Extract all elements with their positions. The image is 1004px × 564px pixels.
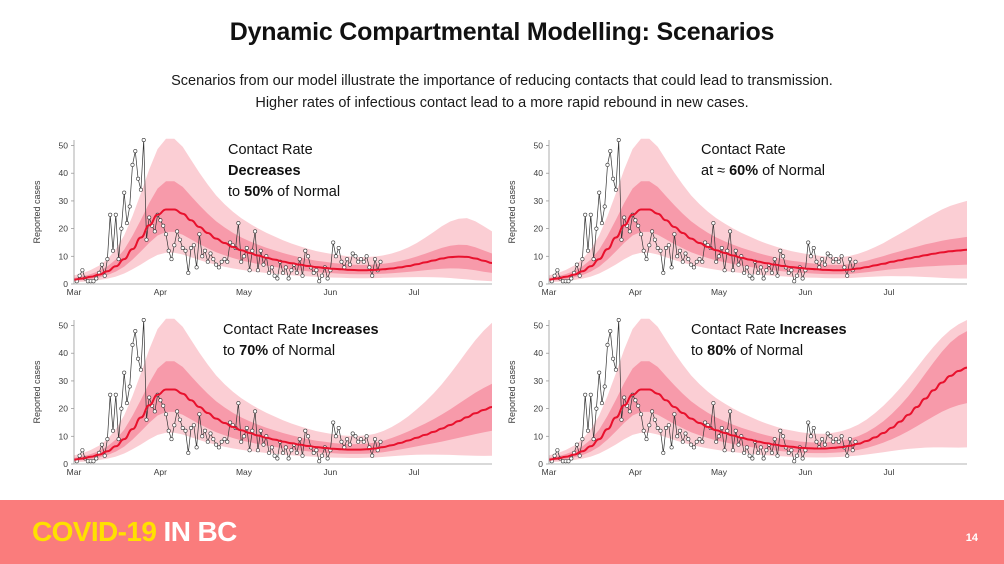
observed-cases-point bbox=[765, 449, 768, 452]
scenario-chart-grid: 01020304050MarAprMayJunJulReported cases… bbox=[0, 132, 1004, 494]
observed-cases-point bbox=[684, 252, 687, 255]
observed-cases-point bbox=[170, 437, 173, 440]
observed-cases-point bbox=[315, 449, 318, 452]
observed-cases-point bbox=[598, 371, 601, 374]
observed-cases-point bbox=[854, 260, 857, 263]
observed-cases-point bbox=[114, 393, 117, 396]
observed-cases-point bbox=[290, 449, 293, 452]
scenario-annotation-emphasis: 60% bbox=[729, 163, 758, 179]
observed-cases-point bbox=[187, 271, 190, 274]
observed-cases-point bbox=[703, 421, 706, 424]
observed-cases-point bbox=[368, 266, 371, 269]
observed-cases-point bbox=[184, 429, 187, 432]
x-axis-tick-label: Jul bbox=[409, 287, 420, 297]
observed-cases-point bbox=[787, 271, 790, 274]
observed-cases-point bbox=[214, 443, 217, 446]
observed-cases-point bbox=[209, 432, 212, 435]
observed-cases-point bbox=[123, 191, 126, 194]
observed-cases-point bbox=[720, 426, 723, 429]
observed-cases-point bbox=[226, 260, 229, 263]
y-axis-tick-label: 10 bbox=[59, 251, 69, 261]
observed-cases-point bbox=[745, 446, 748, 449]
observed-cases-point bbox=[678, 429, 681, 432]
observed-cases-point bbox=[270, 266, 273, 269]
observed-cases-point bbox=[276, 457, 279, 460]
observed-cases-point bbox=[656, 246, 659, 249]
observed-cases-point bbox=[812, 246, 815, 249]
observed-cases-point bbox=[676, 435, 679, 438]
observed-cases-point bbox=[787, 451, 790, 454]
observed-cases-point bbox=[162, 224, 165, 227]
observed-cases-point bbox=[726, 429, 729, 432]
observed-cases-point bbox=[142, 318, 145, 321]
observed-cases-point bbox=[201, 435, 204, 438]
observed-cases-point bbox=[756, 271, 759, 274]
observed-cases-point bbox=[259, 249, 262, 252]
observed-cases-point bbox=[304, 249, 307, 252]
observed-cases-point bbox=[815, 260, 818, 263]
y-axis-tick-label: 50 bbox=[534, 141, 544, 151]
observed-cases-point bbox=[175, 230, 178, 233]
observed-cases-point bbox=[131, 343, 134, 346]
observed-cases-point bbox=[248, 269, 251, 272]
observed-cases-point bbox=[628, 230, 631, 233]
observed-cases-point bbox=[348, 443, 351, 446]
observed-cases-point bbox=[809, 435, 812, 438]
observed-cases-point bbox=[815, 440, 818, 443]
observed-cases-point bbox=[748, 274, 751, 277]
observed-cases-point bbox=[237, 221, 240, 224]
observed-cases-point bbox=[357, 440, 360, 443]
observed-cases-point bbox=[351, 432, 354, 435]
observed-cases-point bbox=[770, 271, 773, 274]
observed-cases-point bbox=[617, 138, 620, 141]
observed-cases-point bbox=[726, 249, 729, 252]
observed-cases-point bbox=[623, 216, 626, 219]
scenario-annotation-text: to bbox=[691, 343, 707, 359]
observed-cases-point bbox=[106, 437, 109, 440]
x-axis-tick-label: Jul bbox=[409, 467, 420, 477]
observed-cases-point bbox=[373, 437, 376, 440]
observed-cases-point bbox=[306, 435, 309, 438]
observed-cases-point bbox=[790, 449, 793, 452]
y-axis-tick-label: 20 bbox=[59, 224, 69, 234]
observed-cases-point bbox=[681, 260, 684, 263]
observed-cases-point bbox=[670, 446, 673, 449]
observed-cases-point bbox=[620, 418, 623, 421]
observed-cases-point bbox=[287, 277, 290, 280]
scenario-annotation-text: of Normal bbox=[758, 163, 825, 179]
observed-cases-point bbox=[656, 426, 659, 429]
observed-cases-point bbox=[556, 449, 559, 452]
observed-cases-point bbox=[162, 404, 165, 407]
observed-cases-point bbox=[664, 426, 667, 429]
observed-cases-point bbox=[645, 257, 648, 260]
observed-cases-point bbox=[365, 435, 368, 438]
observed-cases-point bbox=[298, 437, 301, 440]
observed-cases-point bbox=[748, 454, 751, 457]
observed-cases-point bbox=[120, 227, 123, 230]
observed-cases-point bbox=[251, 249, 254, 252]
observed-cases-point bbox=[639, 233, 642, 236]
page-number: 14 bbox=[966, 532, 978, 544]
observed-cases-point bbox=[570, 277, 573, 280]
scenario-annotation-emphasis: 80% bbox=[707, 343, 736, 359]
observed-cases-point bbox=[829, 255, 832, 258]
observed-cases-point bbox=[570, 457, 573, 460]
observed-cases-point bbox=[731, 449, 734, 452]
observed-cases-point bbox=[114, 213, 117, 216]
observed-cases-point bbox=[695, 440, 698, 443]
observed-cases-point bbox=[379, 260, 382, 263]
footer-banner: COVID-19 IN BC 14 bbox=[0, 500, 1004, 564]
observed-cases-point bbox=[662, 451, 665, 454]
observed-cases-point bbox=[717, 255, 720, 258]
observed-cases-point bbox=[298, 257, 301, 260]
observed-cases-point bbox=[807, 241, 810, 244]
observed-cases-point bbox=[348, 263, 351, 266]
observed-cases-point bbox=[848, 257, 851, 260]
observed-cases-point bbox=[751, 277, 754, 280]
observed-cases-point bbox=[189, 426, 192, 429]
observed-cases-point bbox=[359, 257, 362, 260]
x-axis-tick-label: Mar bbox=[67, 467, 82, 477]
observed-cases-point bbox=[837, 260, 840, 263]
observed-cases-point bbox=[206, 260, 209, 263]
observed-cases-point bbox=[125, 401, 128, 404]
observed-cases-point bbox=[728, 230, 731, 233]
slide-root: Dynamic Compartmental Modelling: Scenari… bbox=[0, 0, 1004, 564]
observed-cases-point bbox=[662, 271, 665, 274]
observed-cases-point bbox=[189, 246, 192, 249]
observed-cases-point bbox=[134, 149, 137, 152]
observed-cases-point bbox=[312, 271, 315, 274]
observed-cases-point bbox=[793, 460, 796, 463]
observed-cases-point bbox=[734, 429, 737, 432]
observed-cases-point bbox=[606, 163, 609, 166]
observed-cases-point bbox=[117, 257, 120, 260]
scenario-annotation-line: to 80% of Normal bbox=[691, 341, 847, 362]
observed-cases-point bbox=[148, 396, 151, 399]
observed-cases-point bbox=[262, 263, 265, 266]
observed-cases-point bbox=[637, 404, 640, 407]
observed-cases-point bbox=[701, 440, 704, 443]
observed-cases-point bbox=[304, 429, 307, 432]
observed-cases-point bbox=[357, 260, 360, 263]
footer-logo: COVID-19 IN BC bbox=[32, 516, 237, 548]
observed-cases-point bbox=[223, 437, 226, 440]
observed-cases-point bbox=[701, 260, 704, 263]
observed-cases-point bbox=[611, 177, 614, 180]
observed-cases-point bbox=[81, 449, 84, 452]
observed-cases-point bbox=[365, 255, 368, 258]
observed-cases-point bbox=[553, 454, 556, 457]
observed-cases-point bbox=[692, 446, 695, 449]
observed-cases-point bbox=[371, 274, 374, 277]
observed-cases-point bbox=[846, 274, 849, 277]
observed-cases-point bbox=[731, 269, 734, 272]
scenario-annotation-text: Contact Rate bbox=[701, 142, 786, 158]
y-axis-tick-label: 40 bbox=[534, 168, 544, 178]
observed-cases-point bbox=[759, 446, 762, 449]
observed-cases-point bbox=[567, 460, 570, 463]
observed-cases-point bbox=[832, 260, 835, 263]
scenario-annotation-line: Contact Rate Increases bbox=[223, 320, 379, 341]
observed-cases-point bbox=[209, 252, 212, 255]
observed-cases-point bbox=[203, 429, 206, 432]
scenario-annotation: Contact Rateat ≈ 60% of Normal bbox=[701, 140, 825, 182]
observed-cases-point bbox=[837, 440, 840, 443]
y-axis-tick-label: 30 bbox=[59, 376, 69, 386]
observed-cases-point bbox=[678, 249, 681, 252]
y-axis-tick-label: 30 bbox=[534, 196, 544, 206]
observed-cases-point bbox=[595, 227, 598, 230]
observed-cases-point bbox=[717, 435, 720, 438]
observed-cases-point bbox=[334, 435, 337, 438]
observed-cases-point bbox=[136, 357, 139, 360]
observed-cases-point bbox=[103, 454, 106, 457]
x-axis-tick-label: Apr bbox=[629, 467, 642, 477]
observed-cases-point bbox=[737, 263, 740, 266]
observed-cases-point bbox=[826, 252, 829, 255]
observed-cases-point bbox=[584, 213, 587, 216]
observed-cases-point bbox=[614, 368, 617, 371]
observed-cases-point bbox=[592, 437, 595, 440]
observed-cases-point bbox=[334, 255, 337, 258]
observed-cases-point bbox=[586, 249, 589, 252]
observed-cases-point bbox=[111, 429, 114, 432]
scenario-annotation-text: of Normal bbox=[268, 343, 335, 359]
observed-cases-point bbox=[287, 457, 290, 460]
observed-cases-point bbox=[611, 357, 614, 360]
observed-cases-point bbox=[779, 249, 782, 252]
observed-cases-point bbox=[142, 138, 145, 141]
observed-cases-point bbox=[820, 437, 823, 440]
y-axis-tick-label: 10 bbox=[534, 251, 544, 261]
observed-cases-point bbox=[253, 410, 256, 413]
scenario-annotation-emphasis: Decreases bbox=[228, 163, 301, 179]
observed-cases-point bbox=[301, 274, 304, 277]
observed-cases-point bbox=[676, 255, 679, 258]
observed-cases-point bbox=[164, 413, 167, 416]
observed-cases-point bbox=[173, 244, 176, 247]
observed-cases-point bbox=[807, 421, 810, 424]
observed-cases-point bbox=[687, 437, 690, 440]
observed-cases-point bbox=[198, 413, 201, 416]
scenario-annotation-line: Contact Rate bbox=[228, 140, 340, 161]
observed-cases-point bbox=[134, 329, 137, 332]
observed-cases-point bbox=[242, 255, 245, 258]
observed-cases-point bbox=[832, 440, 835, 443]
observed-cases-point bbox=[340, 440, 343, 443]
observed-cases-point bbox=[125, 221, 128, 224]
observed-cases-point bbox=[326, 457, 329, 460]
x-axis-tick-label: Jun bbox=[324, 467, 338, 477]
y-axis-tick-label: 50 bbox=[59, 321, 69, 331]
observed-cases-point bbox=[801, 277, 804, 280]
observed-cases-point bbox=[659, 249, 662, 252]
observed-cases-point bbox=[214, 263, 217, 266]
observed-cases-point bbox=[834, 437, 837, 440]
observed-cases-point bbox=[667, 424, 670, 427]
y-axis-label: Reported cases bbox=[32, 360, 42, 424]
y-axis-tick-label: 40 bbox=[59, 348, 69, 358]
observed-cases-point bbox=[256, 269, 259, 272]
observed-cases-point bbox=[614, 188, 617, 191]
observed-cases-point bbox=[648, 244, 651, 247]
observed-cases-point bbox=[240, 440, 243, 443]
x-axis-tick-label: May bbox=[711, 287, 728, 297]
observed-cases-point bbox=[245, 246, 248, 249]
observed-cases-point bbox=[834, 257, 837, 260]
scenario-annotation-line: at ≈ 60% of Normal bbox=[701, 161, 825, 182]
observed-cases-point bbox=[773, 437, 776, 440]
scenario-annotation: Contact RateDecreasesto 50% of Normal bbox=[228, 140, 340, 203]
observed-cases-point bbox=[362, 440, 365, 443]
observed-cases-point bbox=[306, 255, 309, 258]
observed-cases-point bbox=[689, 443, 692, 446]
observed-cases-point bbox=[840, 435, 843, 438]
scenario-annotation-text: of Normal bbox=[273, 184, 340, 200]
observed-cases-point bbox=[100, 443, 103, 446]
observed-cases-point bbox=[273, 274, 276, 277]
y-axis-tick-label: 40 bbox=[534, 348, 544, 358]
observed-cases-point bbox=[773, 257, 776, 260]
observed-cases-point bbox=[751, 457, 754, 460]
observed-cases-point bbox=[781, 435, 784, 438]
page-title: Dynamic Compartmental Modelling: Scenari… bbox=[0, 18, 1004, 47]
x-axis-tick-label: May bbox=[236, 467, 253, 477]
observed-cases-point bbox=[712, 221, 715, 224]
y-axis-tick-label: 50 bbox=[59, 141, 69, 151]
scenario-annotation-text: Contact Rate bbox=[228, 142, 313, 158]
observed-cases-point bbox=[779, 429, 782, 432]
observed-cases-point bbox=[581, 257, 584, 260]
observed-cases-point bbox=[295, 271, 298, 274]
observed-cases-point bbox=[823, 443, 826, 446]
observed-cases-point bbox=[795, 274, 798, 277]
observed-cases-point bbox=[78, 454, 81, 457]
observed-cases-point bbox=[103, 274, 106, 277]
observed-cases-point bbox=[318, 280, 321, 283]
observed-cases-point bbox=[192, 424, 195, 427]
observed-cases-point bbox=[159, 399, 162, 402]
observed-cases-point bbox=[184, 249, 187, 252]
observed-cases-point bbox=[362, 260, 365, 263]
y-axis-tick-label: 40 bbox=[59, 168, 69, 178]
observed-cases-point bbox=[175, 410, 178, 413]
x-axis-tick-label: Jul bbox=[884, 287, 895, 297]
observed-cases-point bbox=[220, 440, 223, 443]
observed-cases-point bbox=[575, 263, 578, 266]
observed-cases-point bbox=[584, 393, 587, 396]
observed-cases-point bbox=[337, 426, 340, 429]
observed-cases-point bbox=[240, 260, 243, 263]
observed-cases-point bbox=[650, 410, 653, 413]
observed-cases-point bbox=[109, 213, 112, 216]
observed-cases-point bbox=[600, 401, 603, 404]
observed-cases-point bbox=[351, 252, 354, 255]
observed-cases-point bbox=[111, 249, 114, 252]
scenario-annotation-line: to 50% of Normal bbox=[228, 182, 340, 203]
observed-cases-point bbox=[578, 274, 581, 277]
x-axis-tick-label: May bbox=[711, 467, 728, 477]
observed-cases-point bbox=[170, 257, 173, 260]
observed-cases-point bbox=[92, 460, 95, 463]
observed-cases-point bbox=[337, 246, 340, 249]
observed-cases-point bbox=[228, 421, 231, 424]
observed-cases-point bbox=[600, 221, 603, 224]
observed-cases-point bbox=[332, 421, 335, 424]
observed-cases-point bbox=[195, 266, 198, 269]
y-axis-tick-label: 10 bbox=[534, 431, 544, 441]
observed-cases-point bbox=[684, 432, 687, 435]
scenario-panel-2: 01020304050MarAprMayJunJulReported cases… bbox=[28, 312, 498, 484]
observed-cases-point bbox=[139, 368, 142, 371]
observed-cases-point bbox=[267, 451, 270, 454]
observed-cases-point bbox=[131, 163, 134, 166]
observed-cases-point bbox=[790, 269, 793, 272]
observed-cases-point bbox=[820, 257, 823, 260]
scenario-annotation-text: to bbox=[228, 184, 244, 200]
observed-cases-point bbox=[812, 426, 815, 429]
observed-cases-point bbox=[609, 329, 612, 332]
observed-cases-point bbox=[248, 449, 251, 452]
observed-cases-point bbox=[259, 429, 262, 432]
y-axis-tick-label: 50 bbox=[534, 321, 544, 331]
observed-cases-point bbox=[100, 263, 103, 266]
x-axis-tick-label: Apr bbox=[154, 467, 167, 477]
observed-cases-point bbox=[106, 257, 109, 260]
scenario-annotation-emphasis: 70% bbox=[239, 343, 268, 359]
subtitle-line-1: Scenarios from our model illustrate the … bbox=[0, 70, 1004, 92]
observed-cases-point bbox=[673, 233, 676, 236]
observed-cases-point bbox=[201, 255, 204, 258]
observed-cases-point bbox=[340, 260, 343, 263]
observed-cases-point bbox=[145, 238, 148, 241]
observed-cases-point bbox=[295, 451, 298, 454]
x-axis-tick-label: Jul bbox=[884, 467, 895, 477]
x-axis-tick-label: May bbox=[236, 287, 253, 297]
observed-cases-point bbox=[637, 224, 640, 227]
y-axis-tick-label: 20 bbox=[59, 404, 69, 414]
observed-cases-point bbox=[698, 257, 701, 260]
observed-cases-point bbox=[653, 418, 656, 421]
observed-cases-point bbox=[603, 385, 606, 388]
observed-cases-point bbox=[237, 401, 240, 404]
observed-cases-point bbox=[284, 266, 287, 269]
scenario-annotation-text: at ≈ bbox=[701, 163, 729, 179]
observed-cases-point bbox=[589, 213, 592, 216]
observed-cases-point bbox=[609, 149, 612, 152]
observed-cases-point bbox=[737, 443, 740, 446]
observed-cases-point bbox=[164, 233, 167, 236]
x-axis-tick-label: Jun bbox=[799, 287, 813, 297]
observed-cases-point bbox=[567, 280, 570, 283]
observed-cases-point bbox=[645, 437, 648, 440]
observed-cases-point bbox=[262, 443, 265, 446]
observed-cases-point bbox=[178, 238, 181, 241]
observed-cases-point bbox=[698, 437, 701, 440]
observed-cases-point bbox=[793, 280, 796, 283]
observed-cases-point bbox=[581, 437, 584, 440]
observed-cases-point bbox=[136, 177, 139, 180]
observed-cases-point bbox=[843, 266, 846, 269]
observed-cases-point bbox=[332, 241, 335, 244]
observed-cases-point bbox=[664, 246, 667, 249]
observed-cases-point bbox=[687, 257, 690, 260]
observed-cases-point bbox=[301, 454, 304, 457]
